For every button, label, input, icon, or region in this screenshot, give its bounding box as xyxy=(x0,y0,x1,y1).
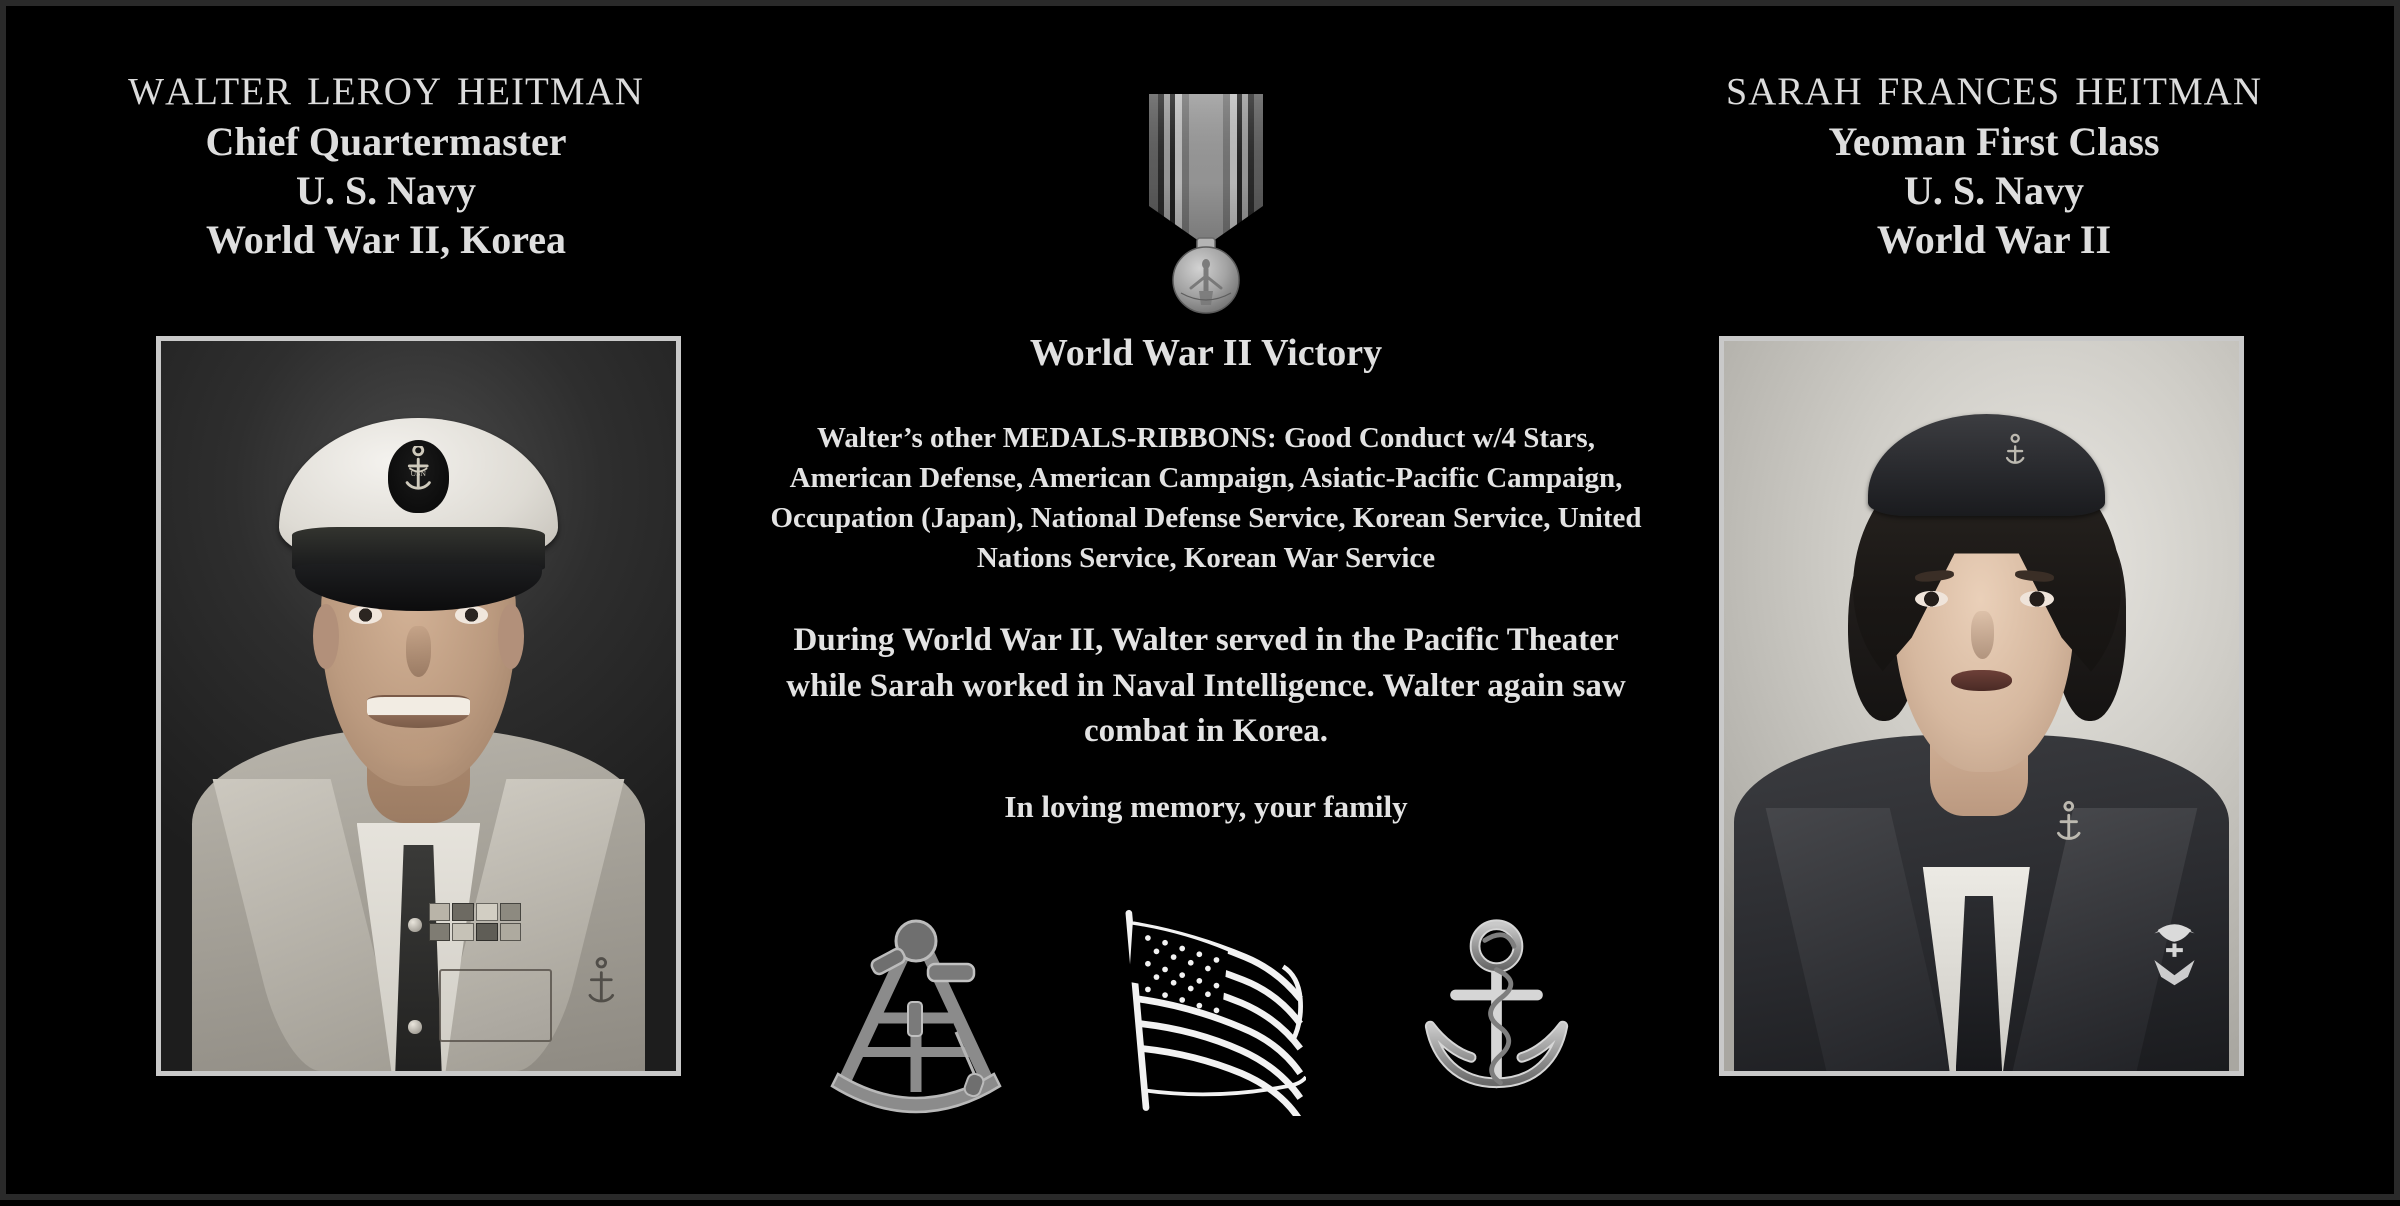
left-person-conflicts: World War II, Korea xyxy=(6,216,766,265)
center-block: World War II Victory Walter’s other MEDA… xyxy=(706,6,1706,1206)
right-person-branch: U. S. Navy xyxy=(1594,167,2394,216)
closing-dedication-text: In loving memory, your family xyxy=(706,786,1706,829)
medals-ribbons-text: Walter’s other MEDALS-RIBBONS: Good Cond… xyxy=(706,418,1706,578)
right-portrait-photo xyxy=(1724,341,2239,1071)
left-person-branch: U. S. Navy xyxy=(6,167,766,216)
american-flag-emblem xyxy=(1106,906,1306,1116)
right-portrait-frame xyxy=(1719,336,2244,1076)
petty-officer-rate-badge-icon xyxy=(2141,896,2208,991)
medal-ribbon xyxy=(1149,94,1263,254)
emblem-row xyxy=(706,906,1706,1116)
left-person-block: Walter Leroy Heitman Chief Quartermaster… xyxy=(6,54,766,264)
collar-anchor-icon xyxy=(2043,794,2095,860)
right-person-conflicts: World War II xyxy=(1594,216,2394,265)
service-ribbons xyxy=(429,903,522,942)
chief-cap-device-icon: USN xyxy=(388,440,450,513)
waves-cap-device-icon xyxy=(1992,429,2038,480)
svg-text:USN: USN xyxy=(411,469,427,478)
left-person-name: Walter Leroy Heitman xyxy=(6,54,766,118)
left-portrait-frame: USN xyxy=(156,336,681,1076)
victory-medal xyxy=(1111,88,1301,323)
left-person-rank: Chief Quartermaster xyxy=(6,118,766,167)
service-history-text: During World War II, Walter served in th… xyxy=(706,618,1706,755)
fouled-anchor-emblem xyxy=(1396,906,1596,1116)
right-person-block: Sarah Frances Heitman Yeoman First Class… xyxy=(1594,54,2394,264)
rating-badge-icon xyxy=(573,954,630,1020)
right-person-rank: Yeoman First Class xyxy=(1594,118,2394,167)
medal-caption: World War II Victory xyxy=(706,331,1706,375)
memorial-plaque: Walter Leroy Heitman Chief Quartermaster… xyxy=(0,0,2400,1200)
right-person-name: Sarah Frances Heitman xyxy=(1594,54,2394,118)
sextant-emblem xyxy=(816,906,1016,1116)
left-portrait-photo: USN xyxy=(161,341,676,1071)
